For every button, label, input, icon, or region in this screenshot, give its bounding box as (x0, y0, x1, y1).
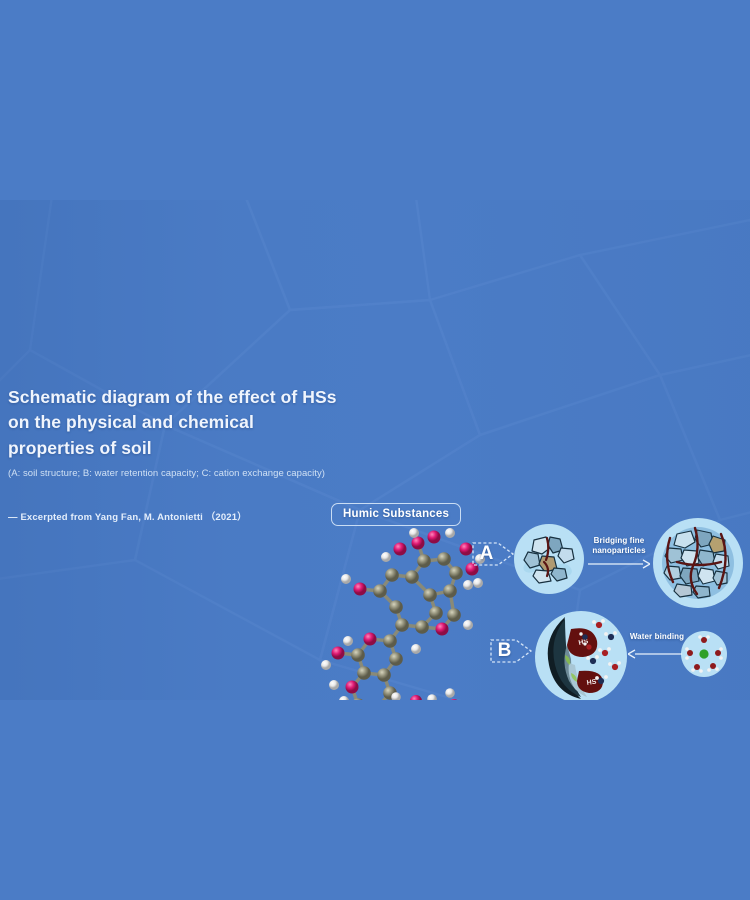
panel-b-right-circle (681, 631, 727, 677)
panel-marker-b: B (488, 628, 534, 674)
panel-a-arrow-icon (588, 558, 650, 570)
svg-text:HS: HS (586, 679, 597, 687)
panel-marker-b-label: B (488, 628, 521, 674)
slide-stage: Schematic diagram of the effect of HSs o… (0, 0, 750, 900)
panel-b-left-circle: HS HS (535, 611, 627, 700)
source-credit: — Excerpted from Yang Fan, M. Antonietti… (8, 509, 338, 523)
slide-panel: Schematic diagram of the effect of HSs o… (0, 200, 750, 700)
panel-marker-a-label: A (470, 531, 503, 577)
humic-substances-label: Humic Substances (331, 503, 461, 526)
page-title: Schematic diagram of the effect of HSs o… (8, 385, 338, 461)
slide-text-block: Schematic diagram of the effect of HSs o… (8, 385, 338, 523)
panel-marker-a: A (470, 531, 516, 577)
panel-b-flow-label: Water binding (627, 632, 687, 642)
panel-a-left-circle (514, 524, 584, 594)
panel-a-right-circle (653, 518, 743, 608)
panel-b-arrow-icon (628, 648, 682, 660)
panel-a-flow-label: Bridging fine nanoparticles (586, 536, 652, 556)
page-subtitle: (A: soil structure; B: water retention c… (8, 468, 338, 481)
